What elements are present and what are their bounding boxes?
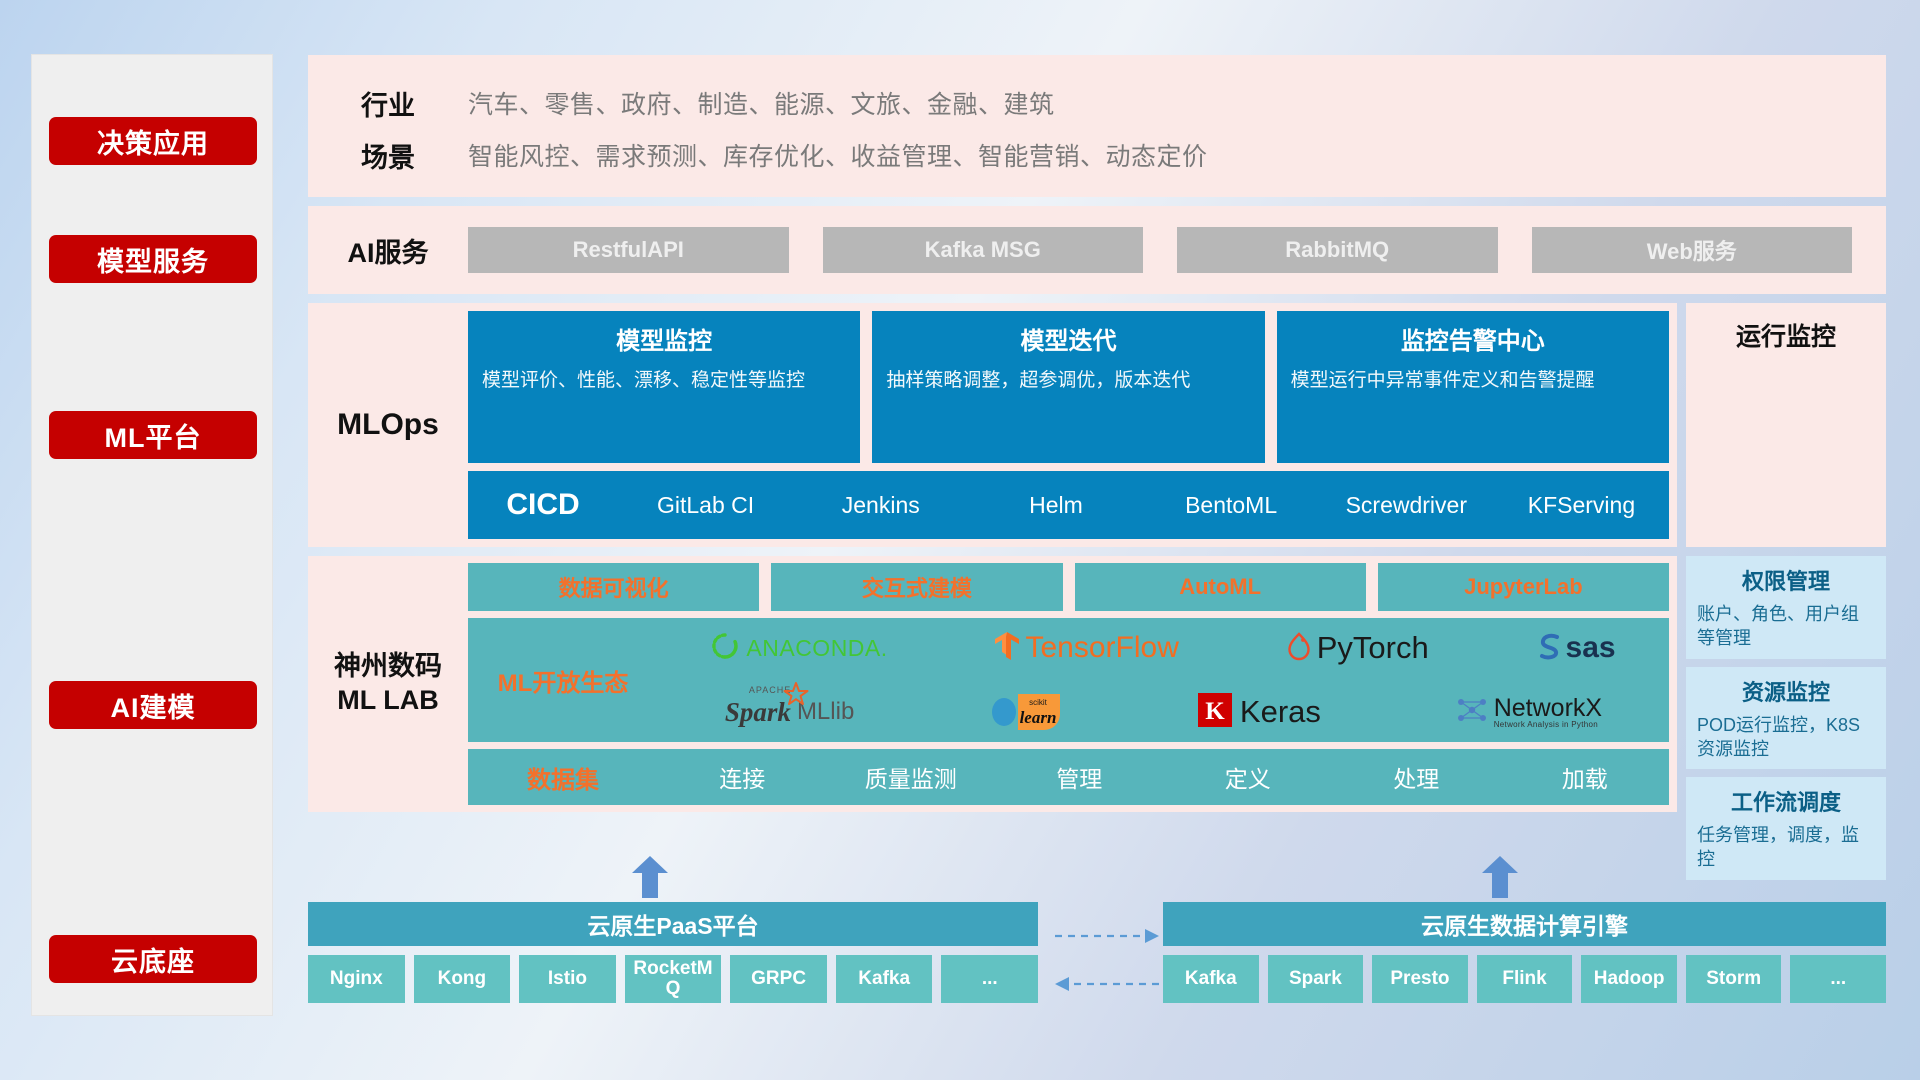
- svg-text:K: K: [1205, 698, 1225, 725]
- ml-open-ecosystem-label: ML开放生态: [468, 663, 658, 698]
- cicd-item-bentoml[interactable]: BentoML: [1144, 492, 1319, 518]
- card-title: 工作流调度: [1697, 785, 1875, 817]
- ai-service-chip-rabbitmq[interactable]: RabbitMQ: [1177, 227, 1498, 273]
- cicd-item-screwdriver[interactable]: Screwdriver: [1319, 492, 1494, 518]
- ai-service-chip-restfulapi[interactable]: RestfulAPI: [468, 227, 789, 273]
- architecture-main-column: 行业 汽车、零售、政府、制造、能源、文旅、金融、建筑 场景 智能风控、需求预测、…: [308, 55, 1886, 880]
- cicd-bar: CICD GitLab CI Jenkins Helm BentoML Scre…: [468, 471, 1669, 539]
- ml-lab-tabs: 数据可视化 交互式建模 AutoML JupyterLab: [468, 563, 1669, 611]
- card-title: 资源监控: [1697, 675, 1875, 707]
- dataset-bar: 数据集 连接 质量监测 管理 定义 处理 加载: [468, 749, 1669, 805]
- cloud-data-engine-group: 云原生数据计算引擎 Kafka Spark Presto Flink Hadoo…: [1163, 902, 1886, 1003]
- mlops-card-model-iteration[interactable]: 模型迭代 抽样策略调整，超参调优，版本迭代: [872, 311, 1264, 463]
- logo-sas: sas: [1536, 631, 1616, 666]
- rail-item-label: 决策应用: [97, 122, 209, 161]
- card-desc: 模型运行中异常事件定义和告警提醒: [1291, 368, 1655, 394]
- ml-lab-band: 神州数码 ML LAB 数据可视化 交互式建模 AutoML JupyterLa…: [308, 556, 1677, 812]
- spark-wordmark: Spark: [725, 697, 791, 728]
- ecosystem-logo-row-2: APACHE Spark MLlib: [658, 682, 1669, 742]
- spark-star-icon: [783, 681, 809, 712]
- rail-item-label: 云底座: [111, 940, 195, 979]
- layer-rail: 决策应用 模型服务 ML平台 AI建模 云底座: [32, 55, 272, 1015]
- card-title: 模型迭代: [886, 321, 1250, 356]
- anaconda-label: ANACONDA.: [746, 635, 887, 662]
- ml-lab-label-line1: 神州数码: [308, 650, 468, 684]
- scenario-row: 场景 智能风控、需求预测、库存优化、收益管理、智能营销、动态定价: [308, 129, 1886, 181]
- cloud-foundation-zone: 云原生PaaS平台 Nginx Kong Istio RocketMQ GRPC…: [308, 862, 1886, 1022]
- rail-item-model-service[interactable]: 模型服务: [49, 235, 257, 283]
- rail-item-label: 模型服务: [97, 240, 209, 279]
- ml-lab-body: 数据可视化 交互式建模 AutoML JupyterLab ML开放生态: [468, 563, 1677, 805]
- ml-lab-label-line2: ML LAB: [308, 684, 468, 718]
- cloud-paas-chips: Nginx Kong Istio RocketMQ GRPC Kafka ...: [308, 955, 1038, 1003]
- ecosystem-logo-row-1: ANACONDA. TensorFlow: [658, 618, 1669, 678]
- applications-band: 行业 汽车、零售、政府、制造、能源、文旅、金融、建筑 场景 智能风控、需求预测、…: [308, 55, 1886, 197]
- logo-scikit-learn: scikit learn: [988, 690, 1064, 735]
- scenario-label: 场景: [308, 136, 468, 175]
- rail-item-cloud-foundation[interactable]: 云底座: [49, 935, 257, 983]
- monitoring-header-column: 运行监控: [1686, 303, 1886, 547]
- bidirectional-link: [1053, 914, 1163, 1014]
- rail-item-label: AI建模: [111, 686, 196, 725]
- card-title: 监控告警中心: [1291, 321, 1655, 356]
- dataset-item-process[interactable]: 处理: [1332, 760, 1501, 794]
- rail-item-decision-apps[interactable]: 决策应用: [49, 117, 257, 165]
- paas-chip-kong[interactable]: Kong: [414, 955, 511, 1003]
- cloud-paas-title: 云原生PaaS平台: [308, 902, 1038, 946]
- cloud-paas-group: 云原生PaaS平台 Nginx Kong Istio RocketMQ GRPC…: [308, 902, 1038, 1003]
- ai-service-label: AI服务: [308, 231, 468, 270]
- pytorch-icon: [1286, 631, 1312, 666]
- cicd-item-helm[interactable]: Helm: [968, 492, 1143, 518]
- logo-anaconda: ANACONDA.: [711, 632, 887, 665]
- keras-label: Keras: [1240, 694, 1321, 730]
- tensorflow-icon: [994, 631, 1020, 666]
- dataset-item-quality-monitor[interactable]: 质量监测: [827, 760, 996, 794]
- rail-item-ai-modeling[interactable]: AI建模: [49, 681, 257, 729]
- dataset-item-define[interactable]: 定义: [1164, 760, 1333, 794]
- networkx-label: NetworkX: [1494, 696, 1602, 721]
- paas-chip-nginx[interactable]: Nginx: [308, 955, 405, 1003]
- mlops-card-alert-center[interactable]: 监控告警中心 模型运行中异常事件定义和告警提醒: [1277, 311, 1669, 463]
- engine-chip-flink[interactable]: Flink: [1477, 955, 1573, 1003]
- engine-chip-presto[interactable]: Presto: [1372, 955, 1468, 1003]
- networkx-icon: [1455, 694, 1489, 731]
- ml-lab-row: 神州数码 ML LAB 数据可视化 交互式建模 AutoML JupyterLa…: [308, 556, 1886, 880]
- engine-chip-hadoop[interactable]: Hadoop: [1581, 955, 1677, 1003]
- logo-pytorch: PyTorch: [1286, 630, 1429, 666]
- card-title: 权限管理: [1697, 564, 1875, 596]
- industry-row: 行业 汽车、零售、政府、制造、能源、文旅、金融、建筑: [308, 77, 1886, 129]
- cloud-data-engine-chips: Kafka Spark Presto Flink Hadoop Storm ..…: [1163, 955, 1886, 1003]
- ecosystem-logos: ANACONDA. TensorFlow: [658, 618, 1669, 742]
- dataset-item-manage[interactable]: 管理: [995, 760, 1164, 794]
- mlops-band: MLOps 模型监控 模型评价、性能、漂移、稳定性等监控 模型迭代 抽样策略调整…: [308, 303, 1677, 547]
- monitoring-cards-column: 权限管理 账户、角色、用户组等管理 资源监控 POD运行监控，K8S资源监控 工…: [1686, 556, 1886, 880]
- logo-spark-mllib: APACHE Spark MLlib: [725, 697, 854, 728]
- bidirectional-arrows-icon: [1053, 914, 1163, 1014]
- tab-interactive-modeling[interactable]: 交互式建模: [771, 563, 1062, 611]
- logo-networkx: NetworkX Network Analysis in Python: [1455, 694, 1602, 731]
- rail-item-ml-platform[interactable]: ML平台: [49, 411, 257, 459]
- mlops-row: MLOps 模型监控 模型评价、性能、漂移、稳定性等监控 模型迭代 抽样策略调整…: [308, 303, 1886, 547]
- ai-service-chip-web[interactable]: Web服务: [1532, 227, 1853, 273]
- dataset-label: 数据集: [468, 760, 658, 795]
- cicd-item-kfserving[interactable]: KFServing: [1494, 492, 1669, 518]
- card-desc: 账户、角色、用户组等管理: [1697, 602, 1875, 651]
- mlops-card-model-monitoring[interactable]: 模型监控 模型评价、性能、漂移、稳定性等监控: [468, 311, 860, 463]
- tab-jupyterlab[interactable]: JupyterLab: [1378, 563, 1669, 611]
- ai-service-items: RestfulAPI Kafka MSG RabbitMQ Web服务: [468, 227, 1886, 273]
- ml-lab-label: 神州数码 ML LAB: [308, 650, 468, 718]
- scikit-learn-icon: scikit learn: [988, 690, 1064, 735]
- monitor-card-permission[interactable]: 权限管理 账户、角色、用户组等管理: [1686, 556, 1886, 659]
- svg-text:learn: learn: [1020, 708, 1057, 727]
- rail-item-label: ML平台: [105, 416, 202, 455]
- ai-service-band: AI服务 RestfulAPI Kafka MSG RabbitMQ Web服务: [308, 206, 1886, 294]
- networkx-subtitle: Network Analysis in Python: [1494, 721, 1602, 729]
- cicd-item-jenkins[interactable]: Jenkins: [793, 492, 968, 518]
- monitoring-title: 运行监控: [1736, 317, 1836, 353]
- svg-text:scikit: scikit: [1029, 698, 1048, 707]
- tab-data-visualization[interactable]: 数据可视化: [468, 563, 759, 611]
- mlops-body: 模型监控 模型评价、性能、漂移、稳定性等监控 模型迭代 抽样策略调整，超参调优，…: [468, 311, 1677, 539]
- cloud-data-engine-title: 云原生数据计算引擎: [1163, 902, 1886, 946]
- anaconda-icon: [711, 632, 739, 665]
- card-desc: 抽样策略调整，超参调优，版本迭代: [886, 368, 1250, 394]
- cicd-title: CICD: [468, 488, 618, 522]
- engine-chip-more[interactable]: ...: [1790, 955, 1886, 1003]
- engine-chip-spark[interactable]: Spark: [1268, 955, 1364, 1003]
- card-desc: POD运行监控，K8S资源监控: [1697, 713, 1875, 762]
- tab-automl[interactable]: AutoML: [1075, 563, 1366, 611]
- card-desc: 模型评价、性能、漂移、稳定性等监控: [482, 368, 846, 394]
- logo-tensorflow: TensorFlow: [994, 631, 1178, 666]
- dataset-item-load[interactable]: 加载: [1501, 760, 1670, 794]
- monitor-card-resource[interactable]: 资源监控 POD运行监控，K8S资源监控: [1686, 667, 1886, 770]
- mlops-label: MLOps: [308, 408, 468, 442]
- paas-chip-kafka[interactable]: Kafka: [836, 955, 933, 1003]
- scenario-values: 智能风控、需求预测、库存优化、收益管理、智能营销、动态定价: [468, 137, 1208, 173]
- sas-icon: [1536, 631, 1564, 666]
- pytorch-label: PyTorch: [1317, 630, 1429, 666]
- card-title: 模型监控: [482, 321, 846, 356]
- industry-label: 行业: [308, 84, 468, 123]
- tensorflow-label: TensorFlow: [1025, 631, 1178, 665]
- engine-chip-storm[interactable]: Storm: [1686, 955, 1782, 1003]
- cicd-item-gitlab-ci[interactable]: GitLab CI: [618, 492, 793, 518]
- logo-keras: K Keras: [1198, 693, 1321, 732]
- keras-icon: K: [1198, 693, 1232, 732]
- dataset-item-connect[interactable]: 连接: [658, 760, 827, 794]
- arrow-up-data-engine-icon: [1478, 856, 1522, 898]
- paas-chip-istio[interactable]: Istio: [519, 955, 616, 1003]
- mlops-cards: 模型监控 模型评价、性能、漂移、稳定性等监控 模型迭代 抽样策略调整，超参调优，…: [468, 311, 1669, 463]
- paas-chip-more[interactable]: ...: [941, 955, 1038, 1003]
- arrow-up-paas-icon: [628, 856, 672, 898]
- paas-chip-grpc[interactable]: GRPC: [730, 955, 827, 1003]
- ml-open-ecosystem: ML开放生态 ANACONDA: [468, 618, 1669, 742]
- ai-service-chip-kafka-msg[interactable]: Kafka MSG: [823, 227, 1144, 273]
- paas-chip-rocketmq[interactable]: RocketMQ: [625, 955, 722, 1003]
- industry-values: 汽车、零售、政府、制造、能源、文旅、金融、建筑: [468, 85, 1055, 121]
- sas-label: sas: [1566, 631, 1616, 665]
- engine-chip-kafka[interactable]: Kafka: [1163, 955, 1259, 1003]
